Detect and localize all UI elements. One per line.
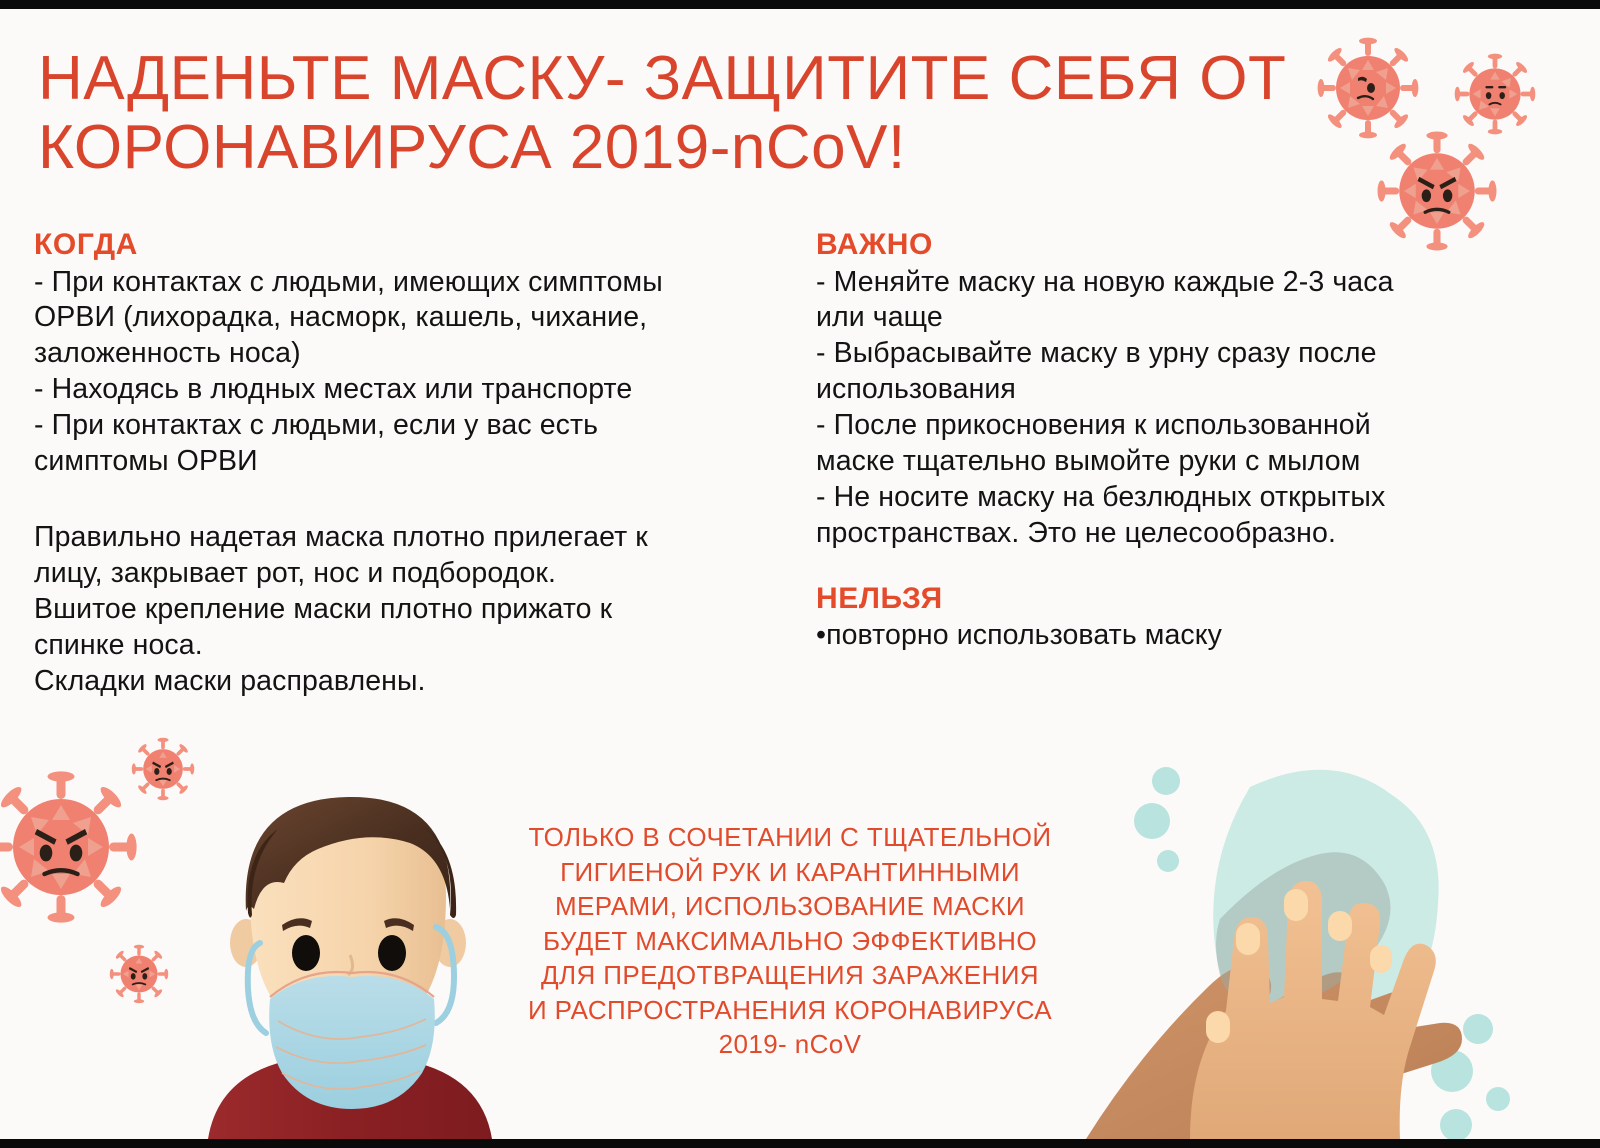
heading-nelzya: НЕЛЬЗЯ [816,582,1516,617]
fingernail-3 [1328,911,1352,941]
column-spacer [816,552,1516,582]
column-spacer [34,480,774,520]
kogda-body-text: - При контактах с людьми, имеющих симпто… [34,265,774,480]
virus-icon-top-right [1455,54,1535,134]
bottom-slogan-text: ТОЛЬКО В СОЧЕТАНИИ С ТЩАТЕЛЬНОЙ ГИГИЕНОЙ… [470,820,1110,1062]
bubble-4 [1463,1014,1493,1044]
virus-icon-top-left [1318,38,1418,138]
fingernail-4 [1370,945,1392,973]
virus-icon-bottom-large [0,772,136,922]
boy-eye-left [292,935,320,971]
letterbox-bar-top [0,0,1600,9]
bubble-1 [1152,767,1180,795]
nelzya-body-text: •повторно использовать маску [816,618,1516,654]
letterbox-bar-bottom [0,1139,1600,1148]
vazhno-body-text: - Меняйте маску на новую каждые 2-3 часа… [816,265,1516,552]
heading-vazhno: ВАЖНО [816,228,1516,263]
poster-title: НАДЕНЬТЕ МАСКУ- ЗАЩИТИТЕ СЕБЯ ОТ КОРОНАВ… [38,44,1308,183]
bubble-6 [1486,1087,1510,1111]
fingernail-1 [1236,923,1260,955]
left-text-column: КОГДА - При контактах с людьми, имеющих … [34,228,774,699]
virus-icon-bottom-small-lower [110,945,168,1003]
fingernail-thumb [1206,1011,1230,1043]
bubble-3 [1157,850,1179,872]
bubble-7 [1440,1109,1472,1139]
hands-washing-illustration [1070,739,1600,1139]
fingernail-2 [1284,889,1308,921]
heading-kogda: КОГДА [34,228,774,263]
poster-canvas: НАДЕНЬТЕ МАСКУ- ЗАЩИТИТЕ СЕБЯ ОТ КОРОНАВ… [0,0,1600,1148]
right-text-column: ВАЖНО - Меняйте маску на новую каждые 2-… [816,228,1516,654]
boy-wearing-mask-illustration [178,747,518,1139]
mask-fit-body-text: Правильно надетая маска плотно прилегает… [34,520,774,700]
bubble-2 [1134,803,1170,839]
boy-eye-right [378,935,406,971]
